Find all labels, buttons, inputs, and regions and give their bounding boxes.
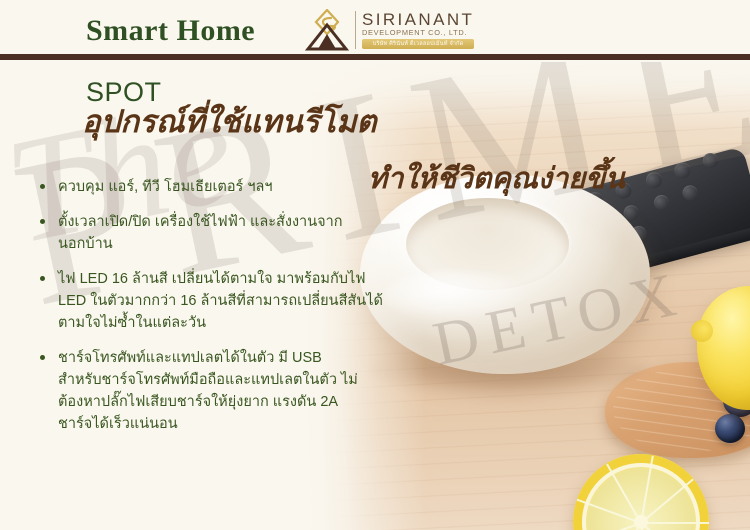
list-item-text: ควบคุม แอร์, ทีวี โฮมเธียเตอร์ ฯลฯ [34, 176, 360, 198]
logo-text: SIRIANANT DEVELOPMENT CO., LTD. บริษัท ศ… [362, 11, 474, 50]
page-title: Smart Home [86, 14, 255, 48]
list-item-text: ตั้งเวลาเปิด/ปิด เครื่องใช้ไฟฟ้า และสั่ง… [34, 211, 360, 255]
bullet-dot-icon [40, 184, 45, 189]
lemon-core [634, 515, 648, 529]
logo-company-name: SIRIANANT [362, 11, 474, 28]
lemon-tip [691, 320, 713, 342]
remote-button [673, 161, 693, 181]
product-title-english: SPOT [86, 78, 377, 106]
header-divider [0, 54, 750, 60]
logo-thai-name-bar: บริษัท ศิรินันท์ ดีเวลลอปเม้นท์ จำกัด [362, 39, 474, 49]
list-item-text: ไฟ LED 16 ล้านสี เปลี่ยนได้ตามใจ มาพร้อม… [34, 268, 384, 334]
remote-button [681, 184, 699, 202]
company-logo: SIRIANANT DEVELOPMENT CO., LTD. บริษัท ศ… [305, 7, 470, 53]
slide-header: Smart Home SIRIANANT DEVELOPMENT CO., LT… [0, 0, 750, 62]
logo-company-subtitle: DEVELOPMENT CO., LTD. [362, 29, 474, 36]
list-item: ชาร์จโทรศัพท์และแทปเลตได้ในตัว มี USB สำ… [34, 347, 360, 435]
lemon-segment [641, 522, 709, 524]
bullet-dot-icon [40, 219, 45, 224]
slide: PRIME The DETOX Smart Home SIRIANANT [0, 0, 750, 530]
list-item: ตั้งเวลาเปิด/ปิด เครื่องใช้ไฟฟ้า และสั่ง… [34, 211, 360, 255]
sirianant-diamond-triangle-logo-icon [305, 9, 349, 51]
remote-button [652, 193, 670, 211]
tagline: ทำให้ชีวิตคุณง่ายขึ้น [368, 163, 625, 196]
list-item: ไฟ LED 16 ล้านสี เปลี่ยนได้ตามใจ มาพร้อม… [34, 268, 384, 334]
title-block: SPOT อุปกรณ์ที่ใช้แทนรีโมต [86, 78, 377, 140]
product-title-thai: อุปกรณ์ที่ใช้แทนรีโมต [82, 104, 377, 140]
logo-divider [355, 11, 356, 49]
feature-bullet-list: ควบคุม แอร์, ทีวี โฮมเธียเตอร์ ฯลฯ ตั้งเ… [34, 176, 360, 435]
blueberry-icon [715, 414, 745, 443]
list-item-text: ชาร์จโทรศัพท์และแทปเลตได้ในตัว มี USB สำ… [34, 347, 360, 435]
list-item: ควบคุม แอร์, ทีวี โฮมเธียเตอร์ ฯลฯ [34, 176, 360, 198]
